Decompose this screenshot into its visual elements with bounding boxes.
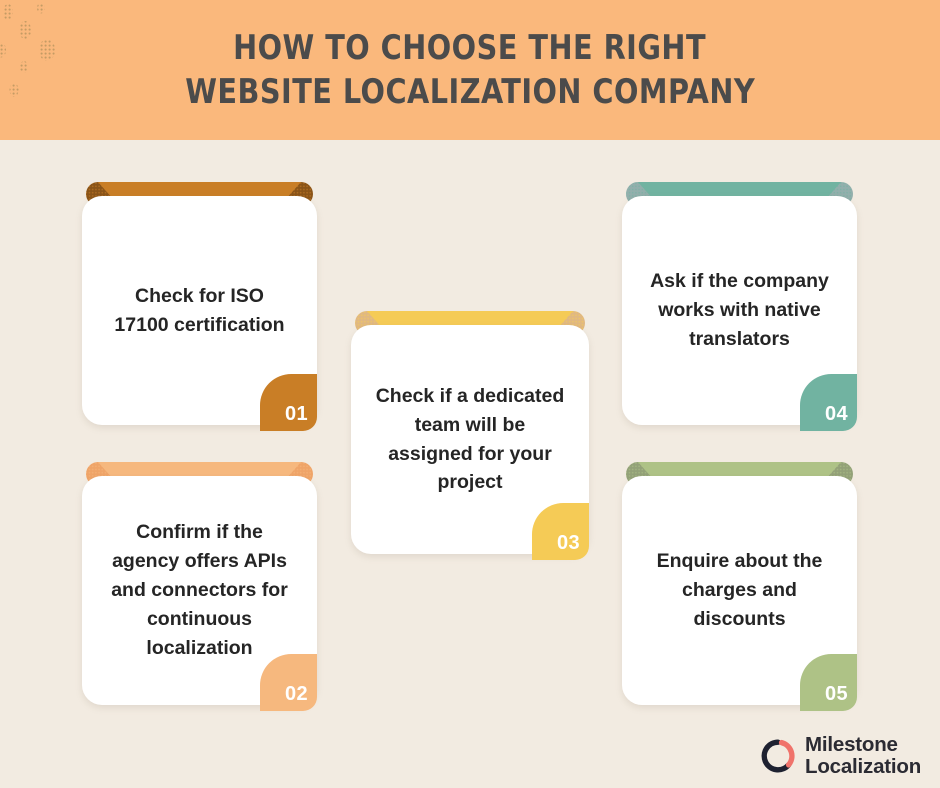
card-step-text: Check if a dedicated team will be assign…	[351, 382, 589, 497]
card-step-text: Ask if the company works with native tra…	[622, 267, 857, 354]
brand-name-line-1: Milestone	[805, 734, 921, 756]
card-step-number-badge: 01	[260, 374, 317, 431]
page-title-line-1: HOW TO CHOOSE THE RIGHT	[234, 29, 707, 67]
step-card-03[interactable]: Check if a dedicated team will be assign…	[351, 311, 589, 570]
card-step-number: 03	[557, 533, 580, 553]
card-step-number-badge: 05	[800, 654, 857, 711]
header-banner: HOW TO CHOOSE THE RIGHT WEBSITE LOCALIZA…	[0, 0, 940, 140]
card-step-number-badge: 03	[532, 503, 589, 560]
card-step-number: 01	[285, 404, 308, 424]
card-step-number-badge: 02	[260, 654, 317, 711]
card-step-text: Enquire about the charges and discounts	[622, 547, 857, 634]
brand-name: Milestone Localization	[805, 734, 921, 778]
step-card-01[interactable]: Check for ISO 17100 certification01	[82, 182, 317, 441]
milestone-ring-icon	[760, 738, 796, 774]
page-title: HOW TO CHOOSE THE RIGHT WEBSITE LOCALIZA…	[0, 0, 940, 140]
card-step-text: Check for ISO 17100 certification	[82, 282, 317, 340]
step-card-02[interactable]: Confirm if the agency offers APIs and co…	[82, 462, 317, 721]
card-step-number-badge: 04	[800, 374, 857, 431]
page-title-line-2: WEBSITE LOCALIZATION COMPANY	[185, 73, 755, 111]
card-step-number: 02	[285, 684, 308, 704]
card-step-number: 04	[825, 404, 848, 424]
step-card-04[interactable]: Ask if the company works with native tra…	[622, 182, 857, 441]
card-step-text: Confirm if the agency offers APIs and co…	[82, 518, 317, 662]
card-step-number: 05	[825, 684, 848, 704]
step-card-05[interactable]: Enquire about the charges and discounts0…	[622, 462, 857, 721]
brand-logo: Milestone Localization	[760, 730, 935, 782]
brand-name-line-2: Localization	[805, 756, 921, 778]
